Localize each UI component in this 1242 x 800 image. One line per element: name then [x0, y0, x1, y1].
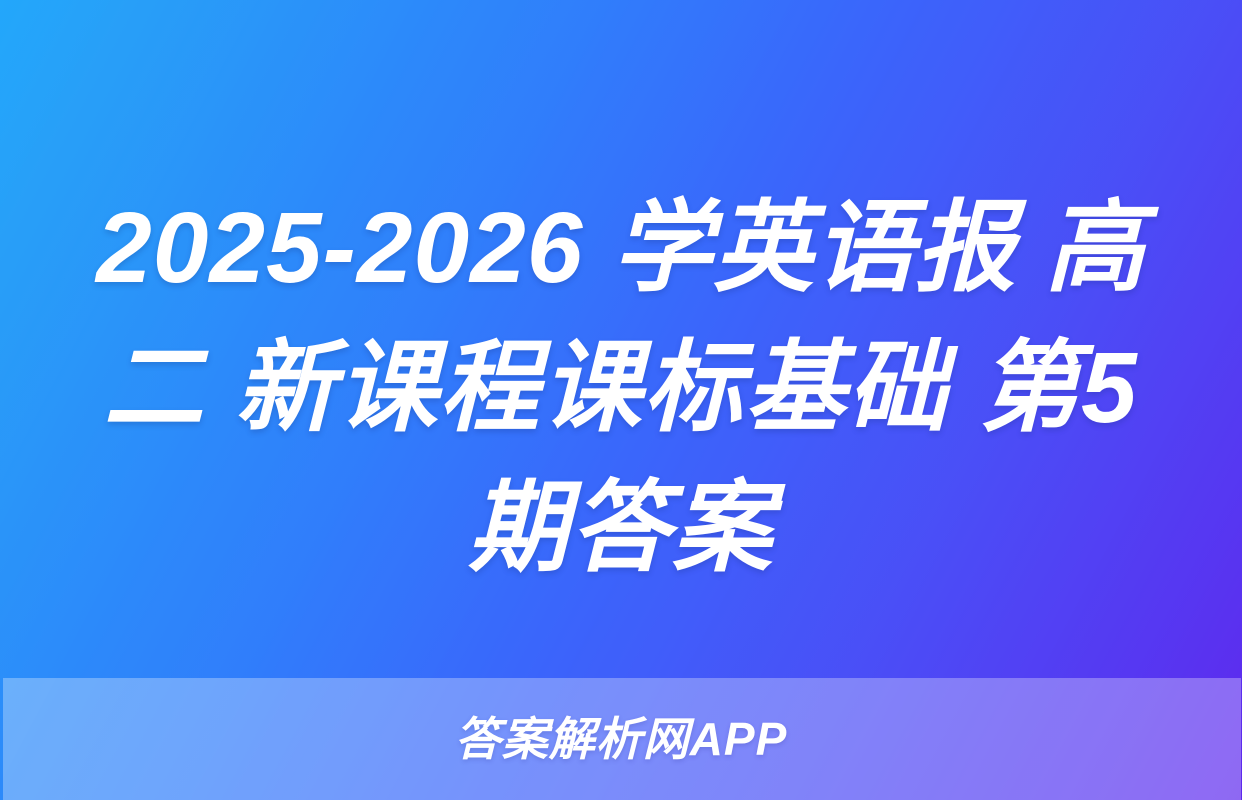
title-line-2: 二 新课程课标基础 第5	[44, 318, 1198, 458]
title-line-3: 期答案	[44, 458, 1198, 598]
page-title: 2025-2026 学英语报 高 二 新课程课标基础 第5 期答案	[0, 178, 1242, 618]
footer-band: 答案解析网APP	[3, 678, 1241, 800]
answer-poster-card: 2025-2026 学英语报 高 二 新课程课标基础 第5 期答案 答案解析网A…	[0, 0, 1242, 800]
title-line-1: 2025-2026 学英语报 高	[44, 178, 1198, 318]
app-watermark-label: 答案解析网APP	[455, 716, 788, 762]
